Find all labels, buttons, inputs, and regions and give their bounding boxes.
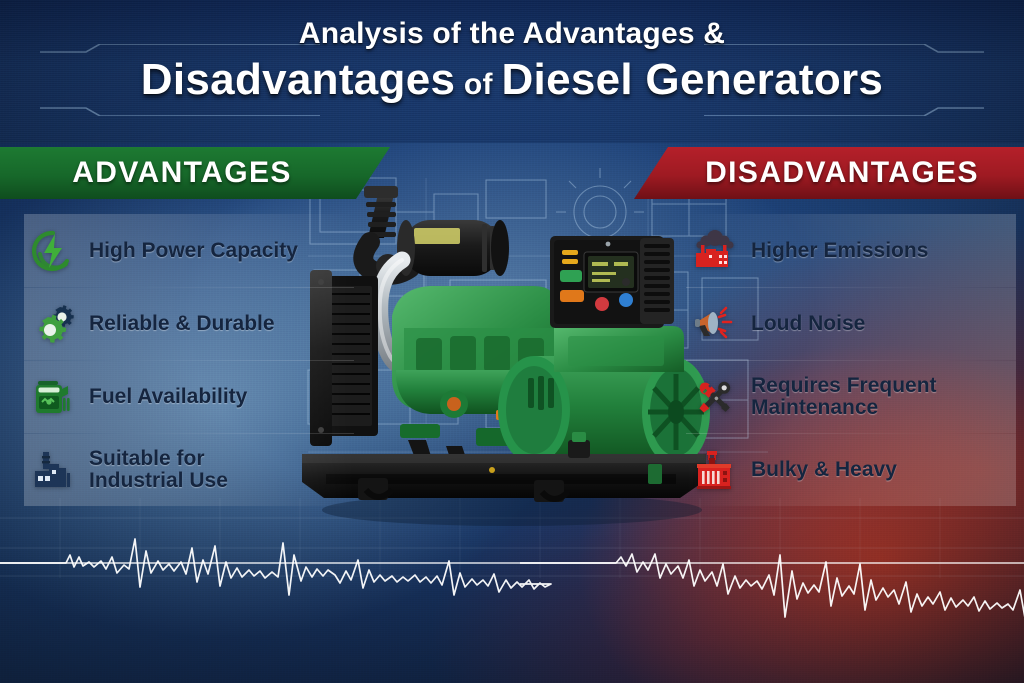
list-item-label: Bulky & Heavy: [751, 459, 897, 481]
disadvantages-banner-label: DISADVANTAGES: [705, 156, 979, 190]
header-band: Analysis of the Advantages & Disadvantag…: [0, 0, 1024, 143]
power-bolt-icon: [30, 228, 76, 274]
factory-icon: [30, 447, 76, 493]
fuel-can-icon: [30, 374, 76, 420]
title-line2-part-c: Diesel Generators: [501, 55, 883, 104]
advantages-list: High Power Capacity Reliable & Durable: [24, 214, 354, 506]
title-line2-part-a: Disadvantages: [141, 55, 455, 104]
list-item-label: Suitable for Industrial Use: [89, 448, 228, 492]
list-item[interactable]: Fuel Availability: [24, 360, 354, 433]
list-item[interactable]: High Power Capacity: [24, 214, 354, 287]
list-item[interactable]: Loud Noise: [686, 287, 1016, 360]
list-item-label: Fuel Availability: [89, 386, 247, 408]
list-item[interactable]: Requires Frequent Maintenance: [686, 360, 1016, 433]
advantages-banner-label: ADVANTAGES: [72, 156, 292, 190]
list-item[interactable]: Suitable for Industrial Use: [24, 433, 354, 506]
list-item[interactable]: Bulky & Heavy: [686, 433, 1016, 506]
list-item[interactable]: Reliable & Durable: [24, 287, 354, 360]
advantages-banner: ADVANTAGES: [0, 147, 390, 199]
list-item-label: Higher Emissions: [751, 240, 928, 262]
shipping-container-icon: [692, 447, 738, 493]
megaphone-icon: [692, 301, 738, 347]
title-line2-part-b: of: [455, 68, 501, 101]
disadvantages-list: Higher Emissions: [686, 214, 1016, 506]
disadvantages-banner: DISADVANTAGES: [634, 147, 1024, 199]
page-title: Analysis of the Advantages & Disadvantag…: [0, 16, 1024, 111]
title-line-1: Analysis of the Advantages &: [0, 16, 1024, 52]
infographic-canvas: Analysis of the Advantages & Disadvantag…: [0, 0, 1024, 683]
title-line1-part-b: Advantages: [523, 17, 695, 50]
diesel-generator-image: [296, 178, 728, 538]
title-line1-part-a: Analysis of the: [299, 17, 523, 50]
gears-icon: [30, 301, 76, 347]
list-item-label: Loud Noise: [751, 313, 865, 335]
list-item-label: Requires Frequent Maintenance: [751, 375, 937, 419]
audio-waveform-decoration: [0, 508, 1024, 618]
smoke-factory-icon: [692, 228, 738, 274]
list-item[interactable]: Higher Emissions: [686, 214, 1016, 287]
list-item-label: Reliable & Durable: [89, 313, 275, 335]
wrench-screwdriver-icon: [692, 374, 738, 420]
title-line1-part-c: &: [695, 17, 725, 50]
title-line-2: Disadvantages of Diesel Generators: [0, 54, 1024, 111]
list-item-label: High Power Capacity: [89, 240, 298, 262]
